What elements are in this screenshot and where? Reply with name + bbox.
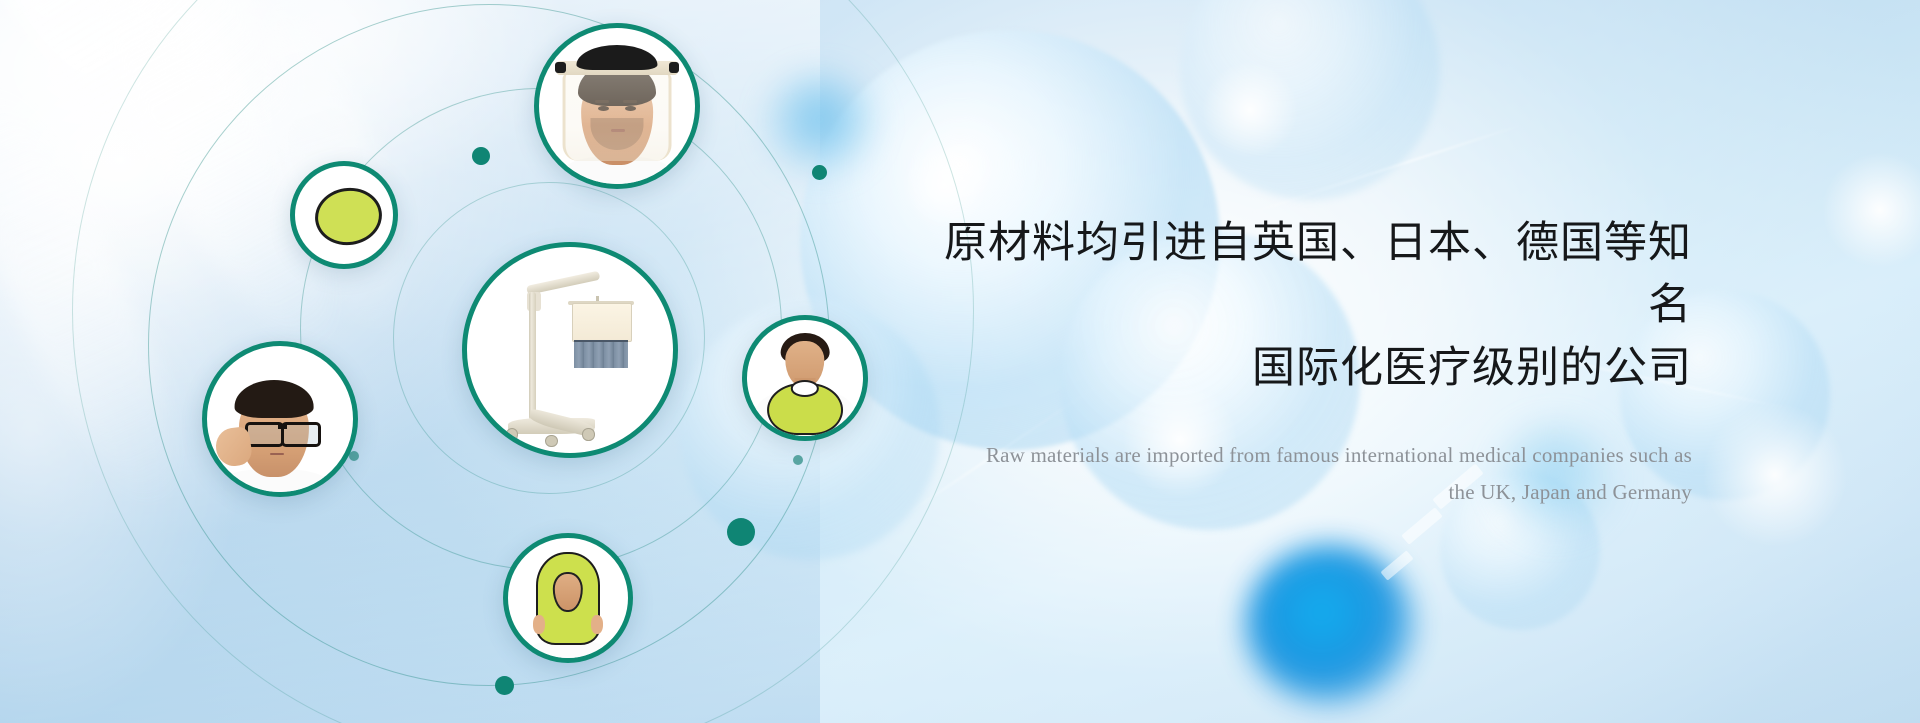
face-shield-crown-strap	[576, 45, 657, 70]
shield-curtain	[574, 340, 628, 369]
subheadline-line-1: Raw materials are imported from famous i…	[932, 437, 1692, 474]
orbit-node-dot	[812, 165, 827, 180]
headline-line-1: 原材料均引进自英国、日本、德国等知名	[932, 212, 1692, 337]
bubble-thyroid-collar-woman[interactable]	[742, 315, 868, 441]
bubble-lead-cap[interactable]	[290, 161, 398, 269]
banner-subheadline: Raw materials are imported from famous i…	[932, 437, 1692, 511]
lead-glasses-shape	[245, 422, 321, 441]
glasses-bridge	[278, 425, 287, 429]
protective-hood-woman-illustration	[508, 538, 628, 658]
thyroid-collar-shape	[767, 383, 843, 436]
banner-copy: 原材料均引进自英国、日本、德国等知名 国际化医疗级别的公司 Raw materi…	[932, 212, 1692, 511]
shield-support-arm	[526, 271, 600, 295]
face-shield-pivot-knob	[669, 62, 680, 73]
face-shield-visor	[563, 73, 672, 160]
headline-line-2: 国际化医疗级别的公司	[932, 337, 1692, 399]
hair-shape	[235, 380, 314, 418]
shield-panel	[572, 303, 632, 342]
shield-caster-wheel	[582, 428, 594, 440]
hero-banner: 原材料均引进自英国、日本、德国等知名 国际化医疗级别的公司 Raw materi…	[0, 0, 1920, 723]
lead-glasses-man-illustration	[207, 346, 353, 492]
light-glow-decoration	[1700, 400, 1850, 550]
shield-caster-wheel	[545, 435, 557, 447]
mouth-shape	[270, 453, 285, 455]
mobile-shield-illustration	[467, 247, 673, 453]
orbit-node-dot	[793, 455, 803, 465]
bubble-face-shield-man[interactable]	[534, 23, 700, 189]
hand-shape	[533, 615, 545, 634]
shield-pole	[529, 292, 536, 420]
subheadline-line-2: the UK, Japan and Germany	[932, 474, 1692, 511]
face-shield-man-illustration	[539, 28, 695, 184]
hand-shape	[591, 615, 603, 634]
cap-body-shape	[311, 183, 385, 249]
bubble-lead-glasses-man[interactable]	[202, 341, 358, 497]
thyroid-collar-woman-illustration	[747, 320, 863, 436]
light-glow-decoration	[1200, 60, 1300, 160]
orbit-node-dot	[495, 676, 514, 695]
banner-headline: 原材料均引进自英国、日本、德国等知名 国际化医疗级别的公司	[932, 212, 1692, 399]
lead-cap-illustration	[295, 166, 393, 264]
bubble-mobile-shield[interactable]	[462, 242, 678, 458]
orbit-node-dot	[472, 147, 490, 165]
face-shield-pivot-knob	[555, 62, 566, 73]
orbit-node-dot	[727, 518, 755, 546]
shield-caster-wheel	[506, 428, 518, 440]
bubble-protective-hood-woman[interactable]	[503, 533, 633, 663]
